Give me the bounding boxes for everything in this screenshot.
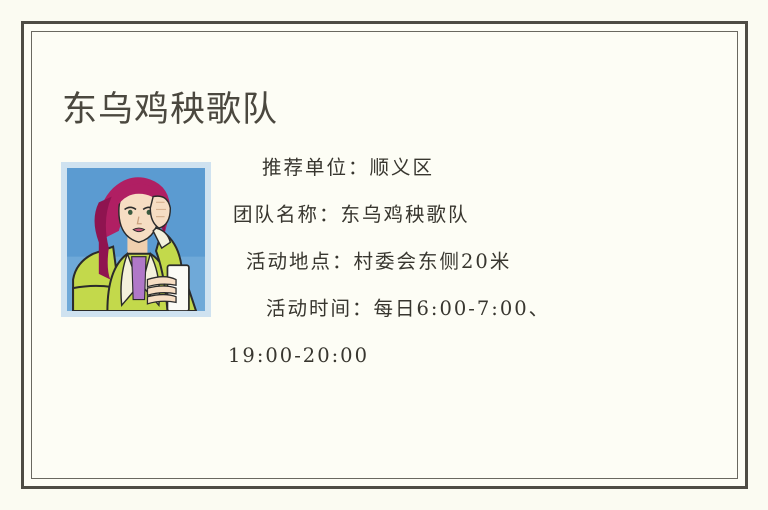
card-content: 推荐单位：顺义区 团队名称：东乌鸡秧歌队 活动地点：村委会东侧20米 活动时间：…: [32, 144, 737, 478]
illustration-thumbnail: [61, 162, 211, 317]
detail-activity-time-cont: 19:00-20:00: [228, 332, 717, 379]
woman-with-glass-illustration: [67, 168, 205, 311]
card-outer-border: 东乌鸡秧歌队: [21, 21, 748, 489]
detail-activity-time: 活动时间：每日6:00-7:00、: [228, 285, 717, 332]
detail-list: 推荐单位：顺义区 团队名称：东乌鸡秧歌队 活动地点：村委会东侧20米 活动时间：…: [228, 144, 717, 379]
page-title: 东乌鸡秧歌队: [62, 91, 278, 130]
detail-team-name: 团队名称：东乌鸡秧歌队: [228, 191, 717, 238]
illustration-canvas: [67, 168, 205, 311]
detail-activity-location: 活动地点：村委会东侧20米: [228, 238, 717, 285]
card-inner-border: 东乌鸡秧歌队: [31, 31, 738, 479]
detail-recommending-unit: 推荐单位：顺义区: [228, 144, 717, 191]
page-root: 东乌鸡秧歌队: [0, 0, 768, 510]
